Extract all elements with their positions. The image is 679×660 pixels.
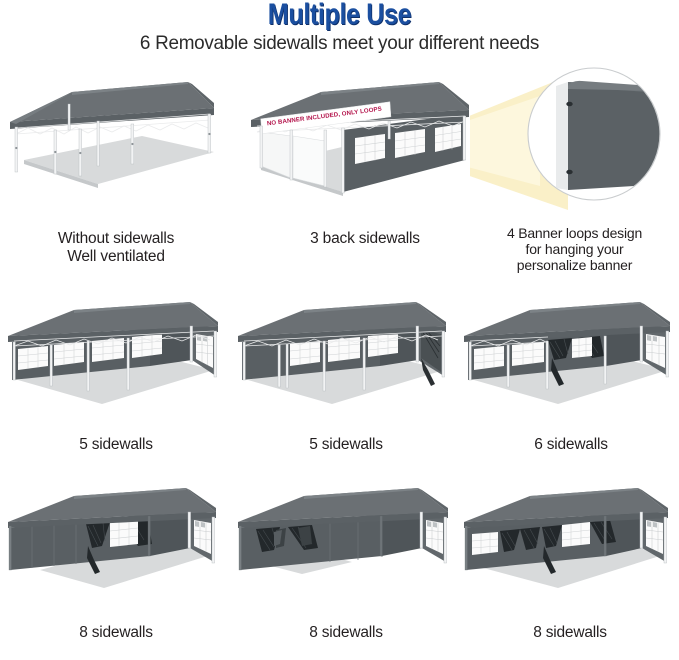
tent-caption: 8 sidewalls xyxy=(2,624,230,642)
tent-caption: 5 sidewalls xyxy=(2,436,230,454)
tent-illustration-eight-c xyxy=(458,482,679,622)
tent-illustration-six xyxy=(460,296,679,432)
tent-figure-8-sidewalls-b: 8 sidewalls xyxy=(232,482,460,622)
tent-illustration-eight-a xyxy=(2,482,230,622)
tent-figure-without-sidewalls: Without sidewalls Well ventilated xyxy=(2,74,230,224)
tent-figure-5-sidewalls-b: 5 sidewalls xyxy=(232,296,460,432)
tent-figure-8-sidewalls-c: 8 sidewalls xyxy=(458,482,679,622)
tent-illustration-eight-b xyxy=(232,482,460,622)
tent-caption: 6 sidewalls xyxy=(460,436,679,454)
tent-figure-5-sidewalls-a: 5 sidewalls xyxy=(2,296,230,432)
tent-figure-3-back-sidewalls: NO BANNER INCLUDED, ONLY LOOPS 3 back si… xyxy=(243,74,487,224)
tent-caption: 8 sidewalls xyxy=(458,624,679,642)
banner-loops-detail-figure: 4 Banner loops design for hanging your p… xyxy=(470,62,679,222)
tent-figure-6-sidewalls: 6 sidewalls xyxy=(460,296,679,432)
infographic-page: Multiple Use 6 Removable sidewalls meet … xyxy=(0,0,679,660)
tent-caption: 5 sidewalls xyxy=(232,436,460,454)
tent-illustration-five-a xyxy=(2,296,230,432)
tent-illustration-open xyxy=(2,74,230,224)
tent-caption: 3 back sidewalls xyxy=(243,230,487,248)
tent-illustration-five-b xyxy=(232,296,460,432)
page-title: Multiple Use xyxy=(54,0,624,32)
tent-illustration-three-back: NO BANNER INCLUDED, ONLY LOOPS xyxy=(243,74,487,224)
banner-loops-caption: 4 Banner loops design for hanging your p… xyxy=(470,226,679,274)
tent-caption: Without sidewalls Well ventilated xyxy=(2,230,230,265)
page-subtitle: 6 Removable sidewalls meet your differen… xyxy=(10,32,669,55)
tent-figure-8-sidewalls-a: 8 sidewalls xyxy=(2,482,230,622)
magnifier-illustration xyxy=(470,62,679,222)
tent-caption: 8 sidewalls xyxy=(232,624,460,642)
